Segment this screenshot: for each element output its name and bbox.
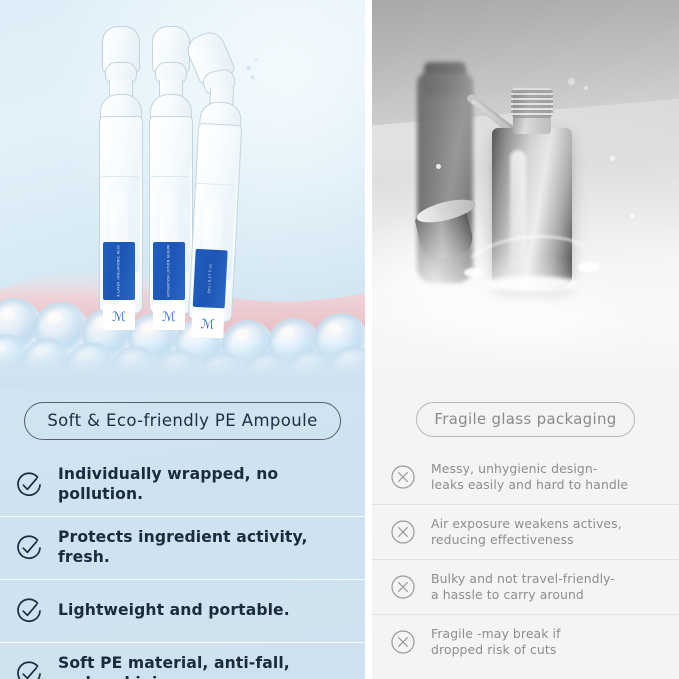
ampoule-product-label: HYDRATION LOTION SERUM: [153, 242, 185, 300]
list-item: Bulky and not travel-friendly- a hassle …: [372, 559, 679, 614]
right-content: Fragile glass packaging Messy, unhygieni…: [372, 390, 679, 669]
x-circle-icon: [390, 629, 416, 655]
left-hero-image: 4-LAYER HYALURONIC ACID ℳ HYDRATION LOTI…: [0, 0, 365, 390]
ampoule-air-bubble: [160, 191, 178, 249]
list-item-text: Messy, unhygienic design- leaks easily a…: [431, 461, 628, 494]
ampoule-label-line-1: 4-LAYER HYALURONIC ACID: [117, 243, 122, 299]
serum-droplet: [246, 65, 251, 70]
list-item-line-2: leaks easily and hard to handle: [431, 477, 628, 493]
right-hero-fade: [372, 320, 679, 390]
list-item-line-2: no hand injury.: [58, 674, 290, 679]
ampoule-label-line-3: 5ml / 0.17 fl.oz: [206, 251, 214, 307]
x-circle-icon: [390, 574, 416, 600]
x-circle-icon: [390, 464, 416, 490]
list-item-line-2: dropped risk of cuts: [431, 642, 561, 658]
list-item-text: Individually wrapped, no pollution.: [58, 465, 351, 504]
list-item-line-1: Messy, unhygienic design-: [431, 461, 628, 477]
serum-droplet: [251, 75, 255, 79]
list-item-text: Air exposure weakens actives, reducing e…: [431, 516, 622, 549]
list-item-text: Protects ingredient activity, fresh.: [58, 528, 351, 567]
list-item: Individually wrapped, no pollution.: [0, 454, 365, 516]
list-item-text: Soft PE material, anti-fall, no hand inj…: [58, 654, 290, 679]
ampoule-product-label: 5ml / 0.17 fl.oz: [193, 249, 228, 309]
pe-ampoule-group: 4-LAYER HYALURONIC ACID ℳ HYDRATION LOTI…: [96, 16, 256, 316]
ampoule-air-bubble: [202, 198, 223, 257]
panel-divider: [365, 0, 372, 679]
ampoule-product-label: 4-LAYER HYALURONIC ACID: [103, 242, 135, 300]
list-item-line-2: a hassle to carry around: [431, 587, 615, 603]
list-item-line-1: Fragile -may break if: [431, 626, 561, 642]
ampoule-3-opened: 5ml / 0.17 fl.oz ℳ: [200, 33, 248, 36]
x-circle-icon: [390, 519, 416, 545]
list-item: Protects ingredient activity, fresh.: [0, 516, 365, 579]
left-panel: 4-LAYER HYALURONIC ACID ℳ HYDRATION LOTI…: [0, 0, 365, 679]
right-panel: Fragile glass packaging Messy, unhygieni…: [372, 0, 679, 679]
ampoule-air-bubble: [110, 191, 128, 249]
right-hero-image: [372, 0, 679, 390]
ampoule-brand-mark: ℳ: [103, 304, 135, 330]
serum-droplet: [255, 58, 258, 61]
check-circle-icon: [14, 533, 44, 563]
right-drawback-list: Messy, unhygienic design- leaks easily a…: [372, 450, 679, 669]
right-badge-title: Fragile glass packaging: [416, 402, 634, 437]
left-badge-title: Soft & Eco-friendly PE Ampoule: [24, 402, 340, 440]
list-item: Lightweight and portable.: [0, 579, 365, 642]
list-item-text: Bulky and not travel-friendly- a hassle …: [431, 571, 615, 604]
list-item: Fragile -may break if dropped risk of cu…: [372, 614, 679, 669]
list-item: Air exposure weakens actives, reducing e…: [372, 504, 679, 559]
list-item: Messy, unhygienic design- leaks easily a…: [372, 450, 679, 504]
list-item-line-2: reducing effectiveness: [431, 532, 622, 548]
check-circle-icon: [14, 596, 44, 626]
list-item-line-1: Soft PE material, anti-fall,: [58, 654, 290, 674]
list-item: Soft PE material, anti-fall, no hand inj…: [0, 642, 365, 679]
ampoule-label-line-2: HYDRATION LOTION SERUM: [167, 243, 172, 299]
list-item-line-1: Protects ingredient activity, fresh.: [58, 528, 308, 566]
list-item-text: Lightweight and portable.: [58, 601, 290, 621]
list-item-line-1: Air exposure weakens actives,: [431, 516, 622, 532]
list-item-line-1: Bulky and not travel-friendly-: [431, 571, 615, 587]
comparison-infographic: 4-LAYER HYALURONIC ACID ℳ HYDRATION LOTI…: [0, 0, 679, 679]
check-circle-icon: [14, 470, 44, 500]
ampoule-brand-mark: ℳ: [191, 311, 224, 339]
left-benefit-list: Individually wrapped, no pollution. Prot…: [0, 454, 365, 679]
list-item-line-1: Lightweight and portable.: [58, 601, 290, 619]
check-circle-icon: [14, 659, 44, 679]
list-item-line-1: Individually wrapped, no pollution.: [58, 465, 278, 503]
left-hero-fade: [0, 344, 365, 390]
ampoule-brand-mark: ℳ: [153, 304, 185, 330]
left-content: Soft & Eco-friendly PE Ampoule Individua…: [0, 390, 365, 679]
list-item-text: Fragile -may break if dropped risk of cu…: [431, 626, 561, 659]
